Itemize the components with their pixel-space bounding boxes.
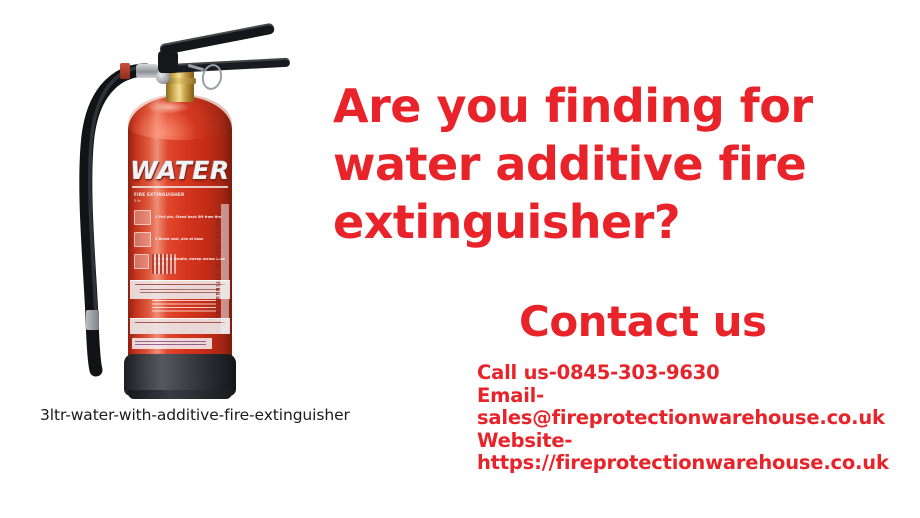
contact-website-value[interactable]: https://fireprotectionwarehouse.co.uk [477,452,917,475]
contact-website-label: Website- [477,430,917,453]
cylinder-wordmark: WATER [130,156,230,185]
headline-line-1: Are you finding for [333,77,893,135]
contact-heading: Contact us [519,298,767,346]
headline-line-2: water additive fire [333,135,893,193]
specification-text-block [152,300,216,314]
product-caption: 3ltr-water-with-additive-fire-extinguish… [40,406,350,424]
pictogram-pull-pin-icon [134,210,151,225]
warning-banner-fine-print [140,289,220,295]
fire-extinguisher-image: WATER FIRE EXTINGUISHER 3 ltr 1 Pull pin… [60,18,280,398]
label-rule [132,186,228,188]
label-side-strip-text: WATER ADDITIVE EXTINGUISHER [213,204,221,334]
serial-sticker-lines [135,341,206,347]
contact-details: Call us-0845-303-9630 Email- sales@firep… [477,362,917,475]
instruction-text: 2 Break seal, aim at base [155,237,203,241]
serial-sticker [132,338,212,349]
warning-banner-text-lines [135,322,225,325]
pictogram-aim-icon [134,232,151,247]
hose-collar-band [120,63,130,79]
headline: Are you finding for water additive fire … [333,77,893,251]
promo-banner: WATER FIRE EXTINGUISHER 3 ltr 1 Pull pin… [0,0,920,518]
label-side-strip: WATER ADDITIVE EXTINGUISHER [221,204,229,334]
label-capacity: 3 ltr [134,199,141,204]
label-subtitle: FIRE EXTINGUISHER [134,192,184,198]
contact-phone-line[interactable]: Call us-0845-303-9630 [477,362,917,385]
lever-hub [158,51,178,73]
dome-highlight [146,100,190,114]
pictogram-squeeze-icon [134,254,149,269]
extinguisher-base-foot [128,390,232,399]
warning-banner-text-lines [135,284,225,287]
approval-marks-pattern [152,254,176,274]
hose-clip [86,310,99,330]
approval-marks-block [152,254,176,274]
headline-line-3: extinguisher? [333,193,893,251]
hose-collar [136,64,158,78]
contact-email-label: Email- [477,385,917,408]
contact-email-value[interactable]: sales@fireprotectionwarehouse.co.uk [477,407,917,430]
instruction-text: 1 Pull pin, Stand back 8ft from fire [155,215,221,219]
